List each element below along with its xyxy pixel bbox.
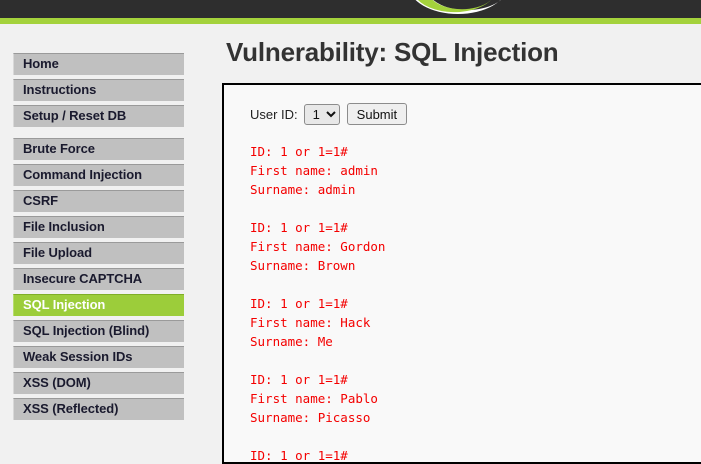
- result-id-line: ID: 1 or 1=1#: [250, 294, 701, 313]
- page-title: Vulnerability: SQL Injection: [222, 30, 701, 74]
- sidebar-item-setup-reset-db[interactable]: Setup / Reset DB: [13, 105, 184, 127]
- vulnerability-content-box: User ID: 1 Submit ID: 1 or 1=1# First na…: [222, 83, 701, 464]
- user-id-label: User ID:: [250, 107, 298, 122]
- dvwa-swirl-logo: [399, 0, 517, 18]
- result-first-name-line: First name: Hack: [250, 313, 701, 332]
- sidebar-item-instructions[interactable]: Instructions: [13, 79, 184, 101]
- sidebar-item-weak-session-ids[interactable]: Weak Session IDs: [13, 346, 184, 368]
- query-results-list: ID: 1 or 1=1# First name: admin Surname:…: [250, 142, 701, 464]
- nav-group-primary: Home Instructions Setup / Reset DB: [13, 53, 184, 127]
- result-id-line: ID: 1 or 1=1#: [250, 142, 701, 161]
- sql-injection-pane: User ID: 1 Submit ID: 1 or 1=1# First na…: [224, 85, 701, 464]
- nav-group-vulnerabilities: Brute Force Command Injection CSRF File …: [13, 138, 184, 420]
- header-accent-rule: [0, 18, 701, 24]
- sidebar-item-command-injection[interactable]: Command Injection: [13, 164, 184, 186]
- main-navigation-sidebar: Home Instructions Setup / Reset DB Brute…: [13, 53, 184, 431]
- sidebar-item-xss-reflected[interactable]: XSS (Reflected): [13, 398, 184, 420]
- sidebar-item-file-upload[interactable]: File Upload: [13, 242, 184, 264]
- result-id-line: ID: 1 or 1=1#: [250, 370, 701, 389]
- result-surname-line: Surname: admin: [250, 180, 701, 199]
- submit-button[interactable]: Submit: [347, 103, 407, 125]
- site-header-bar: [0, 0, 701, 18]
- result-entry: ID: 1 or 1=1# First name: Bob Surname: S…: [250, 446, 701, 464]
- user-id-form: User ID: 1 Submit: [250, 103, 701, 125]
- sidebar-item-home[interactable]: Home: [13, 53, 184, 75]
- result-entry: ID: 1 or 1=1# First name: Gordon Surname…: [250, 218, 701, 275]
- result-surname-line: Surname: Me: [250, 332, 701, 351]
- result-first-name-line: First name: Pablo: [250, 389, 701, 408]
- result-first-name-line: First name: Gordon: [250, 237, 701, 256]
- result-surname-line: Surname: Brown: [250, 256, 701, 275]
- result-id-line: ID: 1 or 1=1#: [250, 446, 701, 464]
- result-entry: ID: 1 or 1=1# First name: admin Surname:…: [250, 142, 701, 199]
- sidebar-item-insecure-captcha[interactable]: Insecure CAPTCHA: [13, 268, 184, 290]
- result-id-line: ID: 1 or 1=1#: [250, 218, 701, 237]
- sidebar-item-sql-injection[interactable]: SQL Injection: [13, 294, 184, 316]
- sidebar-item-sql-injection-blind[interactable]: SQL Injection (Blind): [13, 320, 184, 342]
- result-entry: ID: 1 or 1=1# First name: Pablo Surname:…: [250, 370, 701, 427]
- sidebar-item-brute-force[interactable]: Brute Force: [13, 138, 184, 160]
- sidebar-item-file-inclusion[interactable]: File Inclusion: [13, 216, 184, 238]
- result-surname-line: Surname: Picasso: [250, 408, 701, 427]
- result-first-name-line: First name: admin: [250, 161, 701, 180]
- user-id-select[interactable]: 1: [304, 104, 340, 125]
- main-content-area: Vulnerability: SQL Injection User ID: 1 …: [222, 30, 701, 74]
- result-entry: ID: 1 or 1=1# First name: Hack Surname: …: [250, 294, 701, 351]
- sidebar-item-xss-dom[interactable]: XSS (DOM): [13, 372, 184, 394]
- sidebar-item-csrf[interactable]: CSRF: [13, 190, 184, 212]
